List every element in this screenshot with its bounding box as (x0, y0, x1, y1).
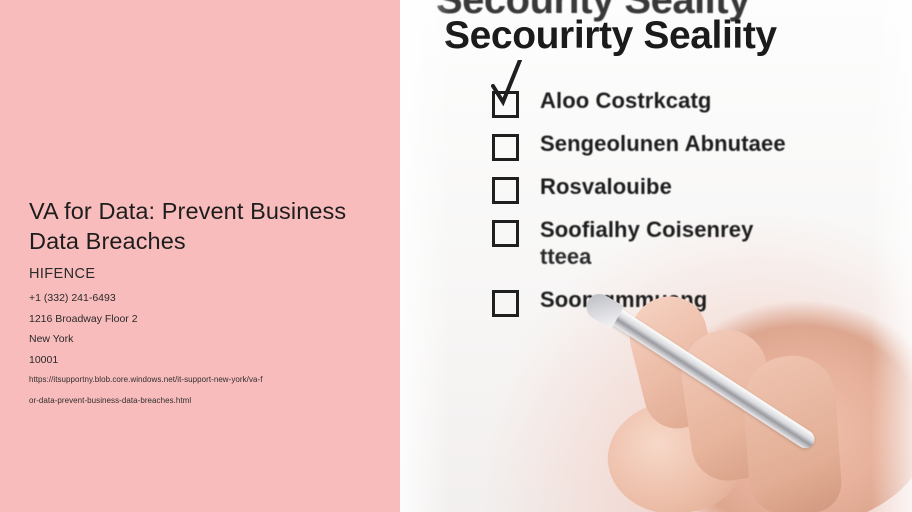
checkbox-icon (492, 220, 519, 247)
checklist-item-label: Aloo Costrkcatg (540, 88, 711, 114)
phone-number: +1 (332) 241-6493 (29, 288, 394, 309)
slide-canvas: VA for Data: Prevent Business Data Breac… (0, 0, 912, 512)
checklist-item-label: Rosvalouibe (540, 174, 672, 200)
checkbox-icon (492, 177, 519, 204)
checklist-item: Aloo Costrkcatg (492, 88, 902, 129)
zip-line: 10001 (29, 350, 394, 371)
checklist-item-sublabel: tteea (540, 244, 591, 270)
image-title-text: Secourirty Sealiity (444, 14, 777, 58)
source-url-line-2: or-data-prevent-business-data-breaches.h… (29, 391, 359, 412)
checkmark-icon (490, 60, 524, 110)
checklist-item: Rosvalouibe (492, 174, 902, 215)
source-url-line-1: https://itsupportny.blob.core.windows.ne… (29, 370, 359, 391)
checklist-item: Sengeolunen Abnutaee (492, 131, 902, 172)
left-info-panel: VA for Data: Prevent Business Data Breac… (0, 0, 400, 512)
city-line: New York (29, 329, 394, 350)
address-line: 1216 Broadway Floor 2 (29, 309, 394, 330)
brand-name: HIFENCE (29, 266, 394, 282)
checkbox-icon (492, 134, 519, 161)
checkbox-icon (492, 290, 519, 317)
page-title: VA for Data: Prevent Business Data Breac… (29, 196, 389, 256)
left-text-block: VA for Data: Prevent Business Data Breac… (29, 196, 394, 411)
checklist-item-label: Sengeolunen Abnutaee (540, 131, 786, 157)
right-image-panel: Secourity Seality Secourirty Sealiity Al… (400, 0, 912, 512)
checklist-item: Soofialhy Coisenrey tteea (492, 217, 902, 285)
checklist-item-label: Soofialhy Coisenrey (540, 217, 753, 243)
